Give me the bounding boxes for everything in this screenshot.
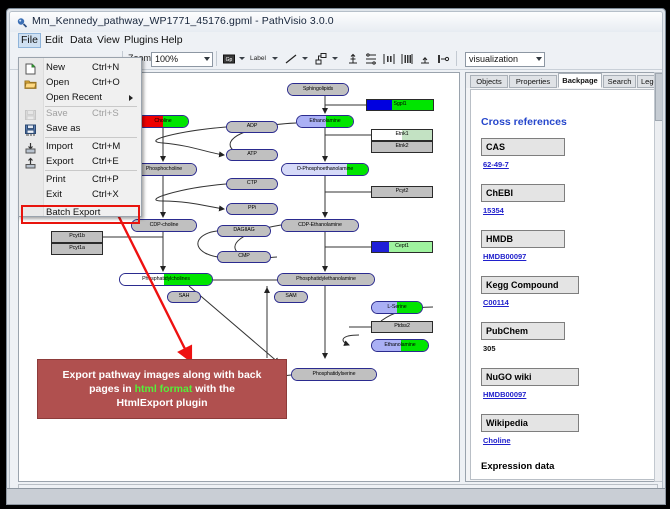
xref-name: Kegg Compound <box>486 277 559 293</box>
file-menu-item-print[interactable]: PrintCtrl+P <box>19 173 141 187</box>
datanode-tool-icon[interactable]: Gp <box>222 52 236 66</box>
pathway-node-l-serine[interactable]: L-Serine <box>371 301 423 314</box>
window-client-area: Mm_Kennedy_pathway_WP1771_45176.gpml - P… <box>9 11 663 502</box>
new-file-icon <box>24 62 37 74</box>
pathway-node-sam[interactable]: SAM <box>274 291 308 303</box>
distribute-vertical-icon[interactable] <box>400 52 414 66</box>
file-menu-item-new[interactable]: NewCtrl+N <box>19 61 141 75</box>
xref-box-wikipedia: Wikipedia <box>481 414 579 432</box>
xref-value-nugo-wiki[interactable]: HMDB00097 <box>483 390 526 399</box>
file-menu-label: New <box>46 61 65 75</box>
sidebar-scrollbar-thumb[interactable] <box>655 73 663 121</box>
menu-view[interactable]: View <box>94 34 123 47</box>
file-menu-label: Exit <box>46 188 62 202</box>
file-menu-accelerator: Ctrl+E <box>92 155 119 169</box>
file-menu-item-exit[interactable]: ExitCtrl+X <box>19 188 141 202</box>
annotation-line3: HtmlExport plugin <box>117 397 208 409</box>
node-label: CDP-Ethanolamine <box>298 223 342 228</box>
window-title: Mm_Kennedy_pathway_WP1771_45176.gpml - P… <box>32 15 334 27</box>
node-label: CTP <box>247 181 257 186</box>
save-as-icon <box>24 123 37 135</box>
batch-export-highlight <box>21 205 140 224</box>
expression-data-heading: Expression data <box>481 461 554 472</box>
node-label: Ethanolamine <box>309 119 340 124</box>
node-label: Etnk1 <box>395 132 408 137</box>
menu-bar: File Edit Data View Plugins Help <box>10 32 662 50</box>
xref-value-wikipedia[interactable]: Choline <box>483 436 511 445</box>
pathway-node-ptdss2[interactable]: Ptdss2 <box>371 321 433 333</box>
node-label: SAH <box>179 294 190 299</box>
pathway-node-pcyt1b[interactable]: Pcyt1b <box>51 231 103 243</box>
pathway-node-choline[interactable]: Choline <box>137 115 189 128</box>
xref-name: Wikipedia <box>486 415 528 431</box>
file-menu-label: Open Recent <box>46 91 102 105</box>
menu-help[interactable]: Help <box>158 34 186 47</box>
xref-box-pubchem: PubChem <box>481 322 565 340</box>
file-menu-label: Print <box>46 173 66 187</box>
line-dropdown-arrow-icon[interactable] <box>302 57 308 60</box>
tab-search[interactable]: Search <box>603 75 636 88</box>
file-menu-label: Open <box>46 76 69 90</box>
file-menu-item-import[interactable]: ImportCtrl+M <box>19 140 141 154</box>
pathway-node-adp[interactable]: ADP <box>226 121 278 133</box>
screenshot-root: Mm_Kennedy_pathway_WP1771_45176.gpml - P… <box>0 0 670 509</box>
pathway-node-etnk2[interactable]: Etnk2 <box>371 141 433 153</box>
xref-name: CAS <box>486 139 505 155</box>
pathway-node-dagiiag[interactable]: DAGIIAG <box>217 225 271 237</box>
interaction-tool-icon[interactable] <box>314 52 328 66</box>
node-label: Choline <box>154 119 171 124</box>
label-tool-text[interactable]: Label <box>250 55 266 62</box>
node-label: O-Phosphoethanolamine <box>297 167 354 172</box>
tab-objects[interactable]: Objects <box>470 75 508 88</box>
node-label: CMP <box>238 254 249 259</box>
pathway-node-pcyt1a[interactable]: Pcyt1a <box>51 243 103 255</box>
file-menu-item-open-recent[interactable]: Open Recent <box>19 91 141 105</box>
file-menu-popup[interactable]: NewCtrl+NOpenCtrl+OOpen RecentSaveCtrl+S… <box>18 57 142 217</box>
pathway-node-phosphatidylethanolamine[interactable]: Phosphatidylethanolamine <box>277 273 375 286</box>
tab-properties[interactable]: Properties <box>509 75 557 88</box>
annotation-callout: Export pathway images along with back pa… <box>37 359 287 419</box>
align-center-icon[interactable] <box>364 52 378 66</box>
node-label: Phosphatidylethanolamine <box>296 277 356 282</box>
align-top-icon[interactable] <box>346 52 360 66</box>
xref-value-pubchem: 305 <box>483 344 496 353</box>
node-label: Pcyt1a <box>69 246 85 251</box>
node-label: Ethanolamine <box>384 343 415 348</box>
xref-box-cas: CAS <box>481 138 565 156</box>
xref-name: ChEBI <box>486 185 513 201</box>
svg-text:Gp: Gp <box>226 57 233 63</box>
annotation-line2-b: with the <box>192 383 235 395</box>
pathway-node-cept1[interactable]: Cept1 <box>371 241 433 253</box>
node-fill-left <box>367 100 392 110</box>
file-menu-item-save: SaveCtrl+S <box>19 107 141 121</box>
pathway-node-sphingolipids[interactable]: Sphingolipids <box>287 83 349 96</box>
node-label: Etnk2 <box>395 144 408 149</box>
submenu-chevron-right-icon <box>129 95 133 101</box>
node-label: Sgpl1 <box>393 102 406 107</box>
group-icon[interactable] <box>436 52 450 66</box>
stack-center-icon[interactable] <box>418 52 432 66</box>
file-menu-item-export[interactable]: ExportCtrl+E <box>19 155 141 169</box>
file-menu-separator <box>45 170 137 171</box>
pathway-node-cdp-choline[interactable]: CDP-choline <box>131 219 197 232</box>
pathway-node-etnk1[interactable]: Etnk1 <box>371 129 433 141</box>
xref-name: PubChem <box>486 323 528 339</box>
xref-name: HMDB <box>486 231 513 247</box>
menu-file[interactable]: File <box>18 33 41 48</box>
chevron-down-icon <box>204 57 210 61</box>
window-bottom-edge <box>6 488 666 505</box>
xref-value-chebi[interactable]: 15354 <box>483 206 504 215</box>
visualization-value: visualization <box>469 53 518 66</box>
export-icon <box>24 156 37 168</box>
zoom-value: 100% <box>155 53 178 66</box>
file-menu-accelerator: Ctrl+S <box>92 107 119 121</box>
xref-box-nugo-wiki: NuGO wiki <box>481 368 579 386</box>
sidebar-scrollbar[interactable] <box>654 72 663 482</box>
pathway-node-cdp-ethanolamine[interactable]: CDP-Ethanolamine <box>281 219 359 232</box>
pathway-node-ppi[interactable]: PPi <box>226 203 278 215</box>
interaction-dropdown-arrow-icon[interactable] <box>332 57 338 60</box>
node-label: Ptdss2 <box>394 324 410 329</box>
xref-box-kegg-compound: Kegg Compound <box>481 276 579 294</box>
file-menu-separator <box>45 137 137 138</box>
node-label: L-Serine <box>387 305 406 310</box>
chevron-down-icon <box>536 57 542 61</box>
pathway-node-ethanolamine[interactable]: Ethanolamine <box>296 115 354 128</box>
pathway-node-phosphatidylserine[interactable]: Phosphatidylserine <box>291 368 377 381</box>
file-menu-accelerator: Ctrl+N <box>92 61 119 75</box>
node-label: CDP-choline <box>150 223 179 228</box>
file-menu-accelerator: Ctrl+X <box>92 188 119 202</box>
title-bar: Mm_Kennedy_pathway_WP1771_45176.gpml - P… <box>10 12 662 33</box>
node-label: Cept1 <box>395 244 409 249</box>
annotation-line2-a: pages in <box>89 383 135 395</box>
annotation-highlight: html format <box>135 383 193 395</box>
node-label: Sphingolipids <box>303 87 333 92</box>
menu-data[interactable]: Data <box>67 34 95 47</box>
node-fill-left <box>372 242 389 252</box>
open-folder-icon <box>24 77 37 89</box>
pathway-node-pcyt2[interactable]: Pcyt2 <box>371 186 433 198</box>
backpage-content: Cross references CAS62-49-7ChEBI15354HMD… <box>470 89 657 480</box>
node-label: Phosphatidylserine <box>313 372 356 377</box>
application-window: Mm_Kennedy_pathway_WP1771_45176.gpml - P… <box>6 8 666 505</box>
datanode-dropdown-arrow-icon[interactable] <box>239 57 245 60</box>
node-label: ATP <box>247 152 257 157</box>
zoom-combobox[interactable]: 100% <box>151 52 213 67</box>
label-dropdown-arrow-icon[interactable] <box>272 57 278 60</box>
file-menu-item-save-as[interactable]: Save as <box>19 122 141 136</box>
pathway-node-phosphatidylcholines[interactable]: Phosphatidylcholines <box>119 273 213 286</box>
pathway-node-o-phosphoethanolamine[interactable]: O-Phosphoethanolamine <box>281 163 369 176</box>
tab-backpage[interactable]: Backpage <box>558 73 602 88</box>
distribute-horizontal-icon[interactable] <box>382 52 396 66</box>
file-menu-label: Save as <box>46 122 80 136</box>
node-label: Pcyt2 <box>396 189 409 194</box>
save-disk-icon <box>24 108 37 120</box>
node-label: SAM <box>285 294 296 299</box>
node-label: Phosphocholine <box>146 167 182 172</box>
pathway-node-ctp[interactable]: CTP <box>226 178 278 190</box>
menu-plugins[interactable]: Plugins <box>121 34 161 47</box>
file-menu-accelerator: Ctrl+P <box>92 173 119 187</box>
node-label: ADP <box>247 124 258 129</box>
file-menu-accelerator: Ctrl+M <box>92 140 120 154</box>
pathway-node-atp[interactable]: ATP <box>226 149 278 161</box>
pathvisio-app-icon <box>16 16 28 28</box>
node-label: Phosphatidylcholines <box>142 277 190 282</box>
node-label: PPi <box>248 206 256 211</box>
file-menu-label: Export <box>46 155 73 169</box>
file-menu-label: Save <box>46 107 68 121</box>
file-menu-item-open[interactable]: OpenCtrl+O <box>19 76 141 90</box>
side-panel: Objects Properties Backpage Search Legen… <box>465 72 660 482</box>
line-tool-icon[interactable] <box>284 52 298 66</box>
cross-references-heading: Cross references <box>481 116 567 128</box>
xref-value-cas[interactable]: 62-49-7 <box>483 160 509 169</box>
annotation-line1: Export pathway images along with back <box>63 369 262 381</box>
side-tab-row: Objects Properties Backpage Search Legen… <box>466 73 659 88</box>
xref-box-hmdb: HMDB <box>481 230 565 248</box>
pathway-node-sgpl1[interactable]: Sgpl1 <box>366 99 434 111</box>
pathway-node-ethanolamine[interactable]: Ethanolamine <box>371 339 429 352</box>
node-label: DAGIIAG <box>233 228 254 233</box>
xref-value-hmdb[interactable]: HMDB00097 <box>483 252 526 261</box>
xref-box-chebi: ChEBI <box>481 184 565 202</box>
xref-name: NuGO wiki <box>486 369 532 385</box>
menu-edit[interactable]: Edit <box>42 34 66 47</box>
file-menu-label: Import <box>46 140 73 154</box>
import-icon <box>24 141 37 153</box>
pathway-node-sah[interactable]: SAH <box>167 291 201 303</box>
xref-value-kegg-compound[interactable]: C00114 <box>483 298 509 307</box>
visualization-combobox[interactable]: visualization <box>465 52 545 67</box>
annotation-text: Export pathway images along with back pa… <box>59 368 266 410</box>
pathway-node-cmp[interactable]: CMP <box>217 251 271 263</box>
file-menu-accelerator: Ctrl+O <box>92 76 120 90</box>
node-label: Pcyt1b <box>69 234 85 239</box>
